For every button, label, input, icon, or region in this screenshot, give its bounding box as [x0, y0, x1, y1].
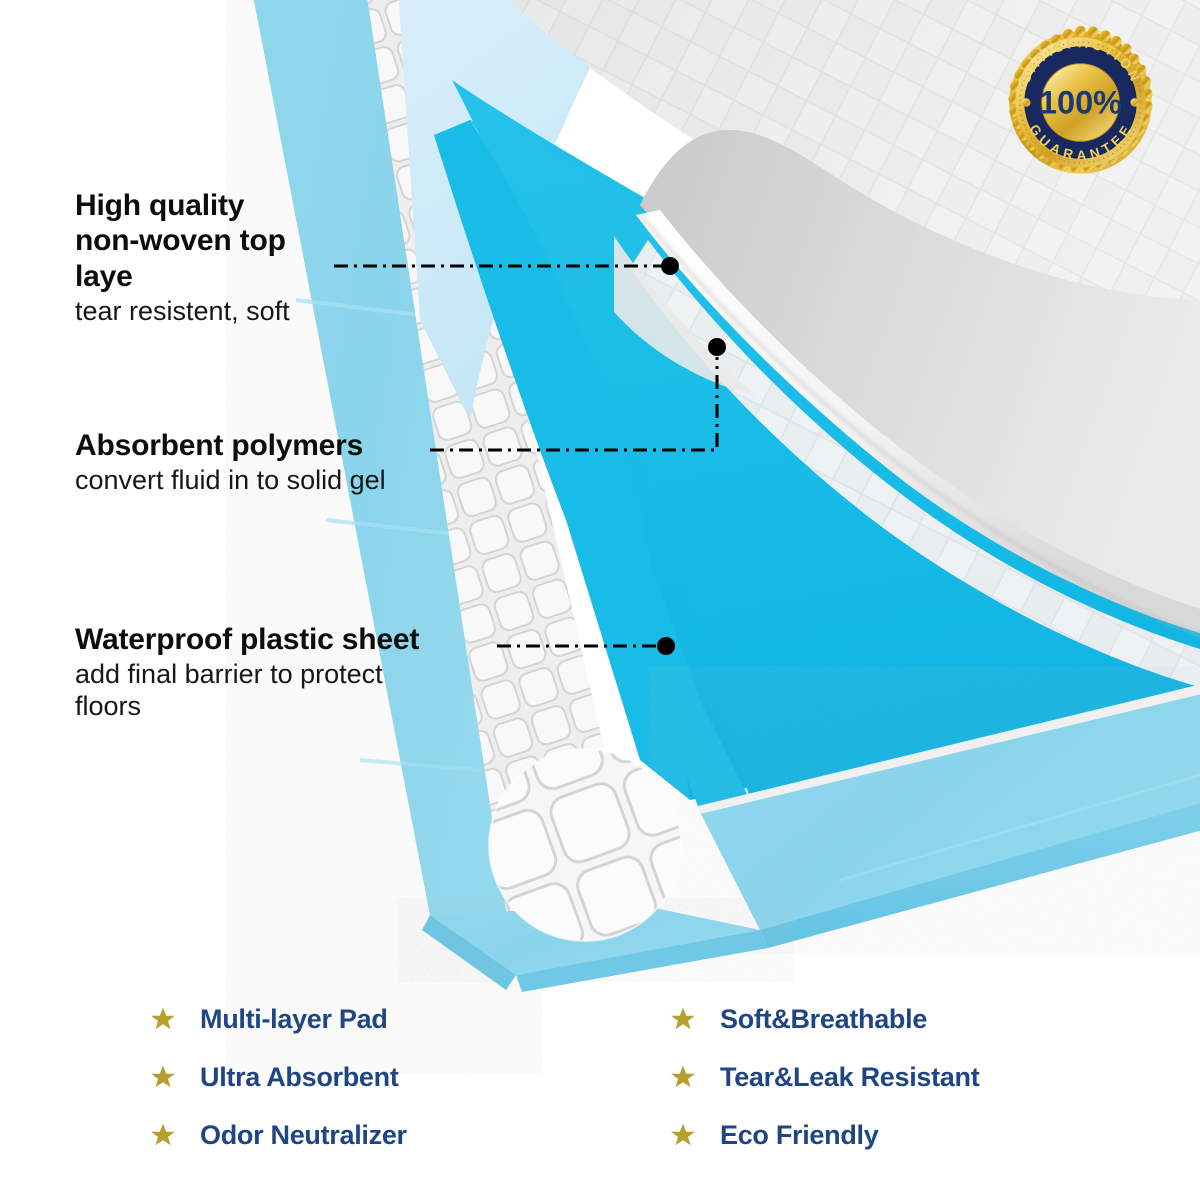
- callout-title: Absorbent polymers: [75, 428, 505, 463]
- product-infographic: High qualitynon-woven toplaye tear resis…: [0, 0, 1200, 1200]
- callout-subtitle: convert fluid in to solid gel: [75, 465, 505, 497]
- callout-title: Waterproof plastic sheet: [75, 622, 505, 657]
- star-icon: [670, 1122, 696, 1148]
- callout-subtitle: tear resistent, soft: [75, 296, 375, 328]
- feature-label: Eco Friendly: [720, 1120, 878, 1151]
- star-icon: [150, 1122, 176, 1148]
- feature-label: Ultra Absorbent: [200, 1062, 399, 1093]
- feature-item: Soft&Breathable: [670, 1000, 1100, 1038]
- callout-non-woven-top-layer: High qualitynon-woven toplaye tear resis…: [75, 188, 375, 328]
- callout-subtitle: add final barrier to protectfloors: [75, 659, 505, 723]
- feature-item: Eco Friendly: [670, 1116, 1100, 1154]
- star-icon: [670, 1006, 696, 1032]
- feature-item: Multi-layer Pad: [150, 1000, 580, 1038]
- star-icon: [150, 1064, 176, 1090]
- callout-absorbent-polymers: Absorbent polymers convert fluid in to s…: [75, 428, 505, 497]
- callout-title: High qualitynon-woven toplaye: [75, 188, 375, 294]
- feature-label: Tear&Leak Resistant: [720, 1062, 979, 1093]
- feature-column-right: Soft&Breathable Tear&Leak Resistant Eco …: [670, 1000, 1100, 1154]
- satisfaction-guarantee-seal-icon: SATISFACTION GUARANTEE 100%: [1003, 25, 1158, 180]
- feature-list: Multi-layer Pad Ultra Absorbent Odor Neu…: [150, 1000, 1150, 1154]
- feature-label: Multi-layer Pad: [200, 1004, 388, 1035]
- feature-item: Tear&Leak Resistant: [670, 1058, 1100, 1096]
- badge-center-text: 100%: [1039, 84, 1122, 120]
- feature-item: Ultra Absorbent: [150, 1058, 580, 1096]
- feature-item: Odor Neutralizer: [150, 1116, 580, 1154]
- callout-waterproof-plastic-sheet: Waterproof plastic sheet add final barri…: [75, 622, 505, 723]
- feature-column-left: Multi-layer Pad Ultra Absorbent Odor Neu…: [150, 1000, 580, 1154]
- feature-label: Soft&Breathable: [720, 1004, 927, 1035]
- star-icon: [150, 1006, 176, 1032]
- star-icon: [670, 1064, 696, 1090]
- feature-label: Odor Neutralizer: [200, 1120, 407, 1151]
